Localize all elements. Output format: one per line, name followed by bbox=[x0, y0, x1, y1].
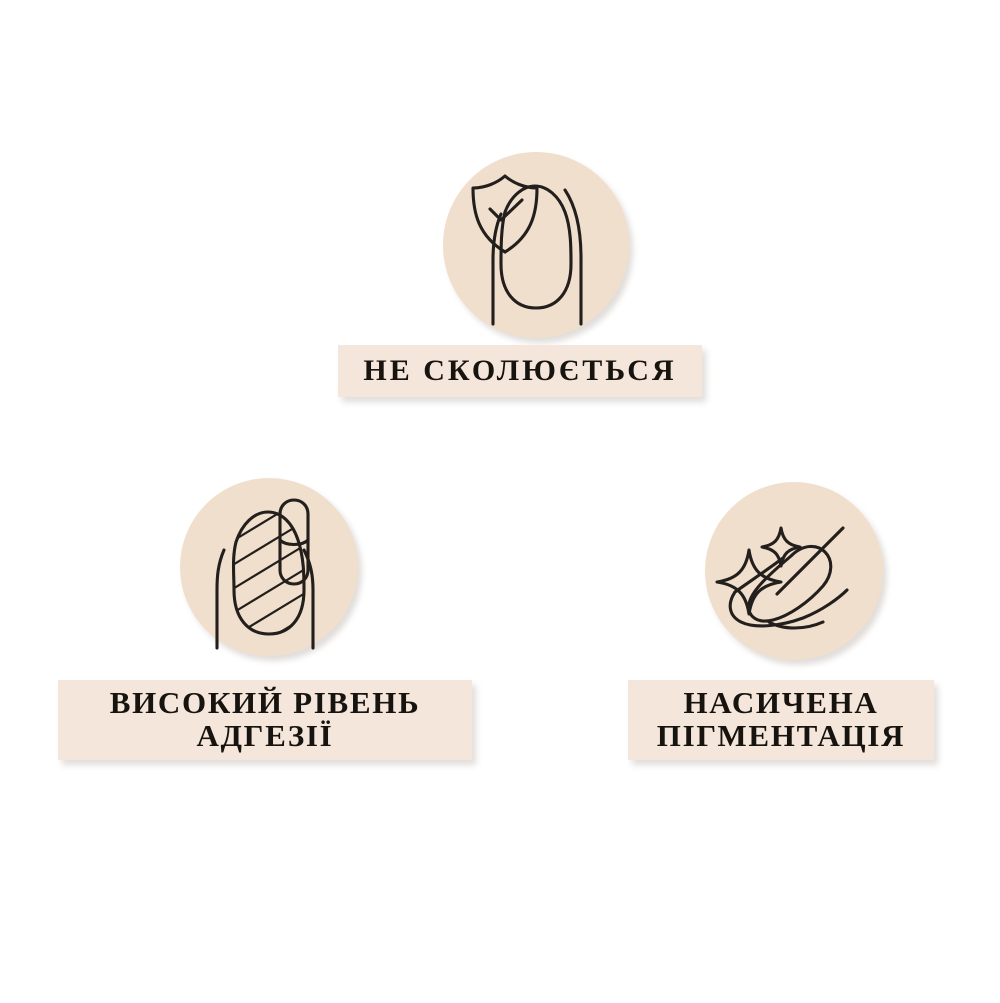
nail-sparkle-icon bbox=[705, 482, 883, 660]
label-band-high-adhesion: ВИСОКИЙ РІВЕНЬ АДГЕЗІЇ bbox=[58, 680, 472, 760]
nail-hatched-brush-icon bbox=[180, 478, 358, 656]
nail-shield-check-icon bbox=[443, 152, 629, 338]
feature-label-rich-pigment: НАСИЧЕНА ПІГМЕНТАЦІЯ bbox=[647, 687, 915, 753]
badge-circle-chip-resistant bbox=[443, 152, 629, 338]
features-stage: НЕ СКОЛЮЄТЬСЯ bbox=[0, 0, 1000, 1003]
badge-circle-rich-pigment bbox=[705, 482, 883, 660]
badge-circle-high-adhesion bbox=[180, 478, 358, 656]
label-band-chip-resistant: НЕ СКОЛЮЄТЬСЯ bbox=[338, 345, 702, 397]
feature-label-high-adhesion: ВИСОКИЙ РІВЕНЬ АДГЕЗІЇ bbox=[100, 687, 431, 753]
label-band-rich-pigment: НАСИЧЕНА ПІГМЕНТАЦІЯ bbox=[628, 680, 934, 760]
feature-label-chip-resistant: НЕ СКОЛЮЄТЬСЯ bbox=[353, 355, 686, 387]
